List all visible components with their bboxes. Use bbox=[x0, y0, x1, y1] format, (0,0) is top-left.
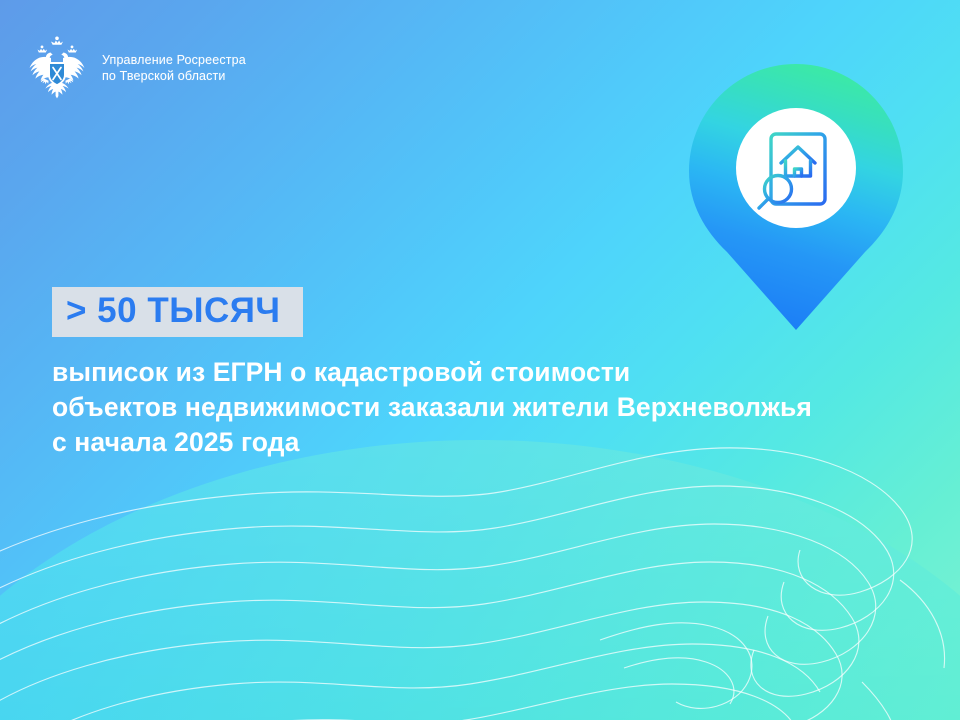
logo-text-line-1: Управление Росреестра bbox=[102, 52, 246, 69]
body-copy-line-3: с начала 2025 года bbox=[52, 425, 932, 460]
rosreestr-double-headed-eagle-emblem bbox=[22, 32, 92, 104]
map-pin-with-property-document-icon bbox=[689, 64, 903, 330]
hill-highlight bbox=[0, 440, 960, 720]
logo-text-block: Управление Росреестра по Тверской област… bbox=[102, 52, 246, 85]
logo-text-line-2: по Тверской области bbox=[102, 68, 246, 85]
body-copy-line-1: выписок из ЕГРН о кадастровой стоимости bbox=[52, 355, 932, 390]
headline-badge: > 50 ТЫСЯЧ bbox=[52, 287, 303, 337]
topographic-hill-shape bbox=[0, 440, 960, 720]
body-copy-line-2: объектов недвижимости заказали жители Ве… bbox=[52, 390, 932, 425]
rosreestr-logo: Управление Росреестра по Тверской област… bbox=[22, 32, 246, 104]
body-copy: выписок из ЕГРН о кадастровой стоимости … bbox=[52, 355, 932, 461]
poster-canvas: Управление Росреестра по Тверской област… bbox=[0, 0, 960, 720]
